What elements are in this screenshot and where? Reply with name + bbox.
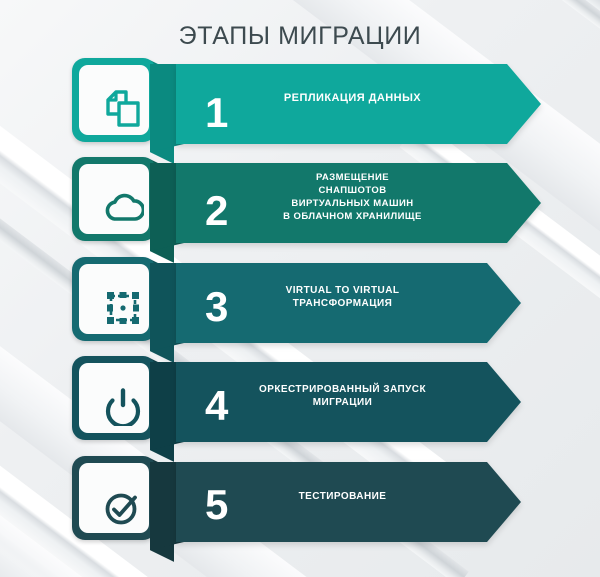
tile-front-face xyxy=(72,456,156,540)
step-label: VIRTUAL TO VIRTUALТРАНСФОРМАЦИЯ xyxy=(205,284,480,310)
tile-front-face xyxy=(72,58,156,142)
tile-front-face xyxy=(72,257,156,341)
step-row[interactable]: 1РЕПЛИКАЦИЯ ДАННЫХ xyxy=(0,58,600,158)
tile-front-face xyxy=(72,356,156,440)
step-row[interactable]: 4ОРКЕСТРИРОВАННЫЙ ЗАПУСКМИГРАЦИИ xyxy=(0,356,600,456)
tile-front-face xyxy=(72,157,156,241)
step-label: РАЗМЕЩЕНИЕСНАПШОТОВВИРТУАЛЬНЫХ МАШИНВ ОБ… xyxy=(205,171,500,223)
step-row[interactable]: 5ТЕСТИРОВАНИЕ xyxy=(0,456,600,556)
page-title: ЭТАПЫ МИГРАЦИИ xyxy=(0,22,600,51)
infographic-canvas: ЭТАПЫ МИГРАЦИИ 1РЕПЛИКАЦИЯ ДАННЫХ 2РАЗМЕ… xyxy=(0,0,600,577)
step-row[interactable]: 3VIRTUAL TO VIRTUALТРАНСФОРМАЦИЯ xyxy=(0,257,600,357)
step-label: ТЕСТИРОВАНИЕ xyxy=(205,490,480,503)
step-label: РЕПЛИКАЦИЯ ДАННЫХ xyxy=(205,92,500,105)
step-label: ОРКЕСТРИРОВАННЫЙ ЗАПУСКМИГРАЦИИ xyxy=(205,383,480,409)
step-row[interactable]: 2РАЗМЕЩЕНИЕСНАПШОТОВВИРТУАЛЬНЫХ МАШИНВ О… xyxy=(0,157,600,257)
